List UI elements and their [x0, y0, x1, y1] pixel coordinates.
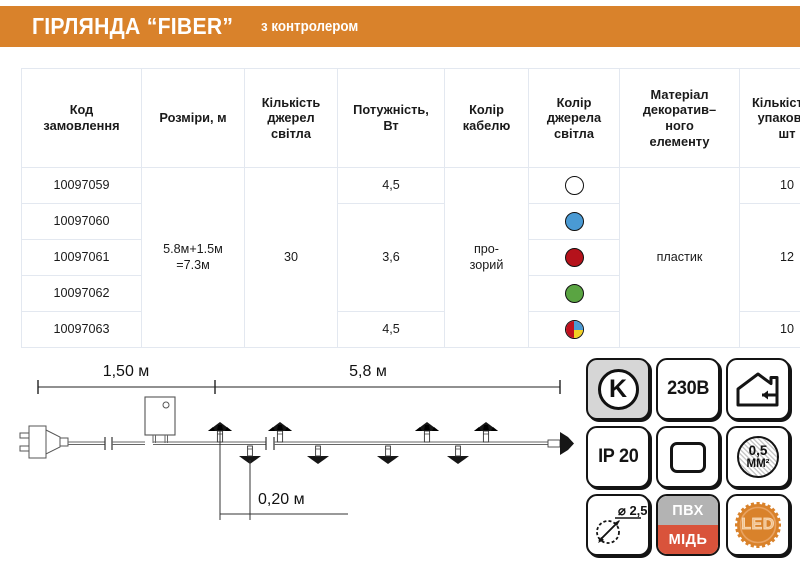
cell-order-code: 10097063: [22, 312, 142, 348]
k-mark-icon: K: [598, 369, 639, 410]
table-header: Код замовлення Розміри, м Кількість джер…: [22, 69, 800, 168]
cell-cable-color-line2: зорий: [448, 258, 525, 273]
diagram-svg: 1,50 м 5,8 м: [8, 352, 578, 557]
cross-section-value: 0,5: [749, 444, 768, 458]
dimension-lead-label: 1,50 м: [103, 363, 150, 380]
col-material-line4: елементу: [623, 134, 736, 150]
col-power: Потужність, Вт: [338, 69, 445, 168]
color-swatch-blue: [565, 212, 584, 231]
product-diagram: 1,50 м 5,8 м: [8, 352, 578, 557]
color-swatch-white: [565, 176, 584, 195]
cell-dimensions-line2: =7.3м: [145, 258, 241, 273]
cell-dimensions-line1: 5.8м+1.5м: [145, 242, 241, 257]
cell-power: 3,6: [338, 204, 445, 312]
cell-order-code: 10097062: [22, 276, 142, 312]
badge-voltage: 230В: [656, 358, 720, 420]
badge-ip-rating: IP 20: [586, 426, 650, 488]
col-material-line1: Матеріал: [623, 87, 736, 103]
cell-light-color: [529, 240, 620, 276]
house-arrow-icon: [735, 369, 781, 409]
col-order-code: Код замовлення: [22, 69, 142, 168]
pictogram-grid: K 230В IP 20 0,5 ММ²: [586, 358, 792, 556]
led-seal-icon: LED: [735, 502, 781, 548]
badge-indoor-use: [726, 358, 790, 420]
cross-section-unit: ММ²: [747, 458, 770, 470]
col-light-color-line1: Колір: [532, 95, 616, 111]
color-swatch-red: [565, 248, 584, 267]
col-pack-qty-line3: шт: [743, 126, 800, 142]
cable-lead: [68, 437, 145, 450]
material-wire-conductor: МІДЬ: [658, 525, 718, 554]
table-body: 10097059 5.8м+1.5м =7.3м 30 4,5 про- зор…: [22, 168, 800, 348]
dimension-main: 5,8 м: [215, 363, 560, 394]
diameter-label: ⌀ 2,55: [618, 503, 647, 518]
col-cable-color: Колір кабелю: [445, 69, 529, 168]
color-swatch-green: [565, 284, 584, 303]
ip-rating-label: IP 20: [598, 446, 638, 468]
col-dimensions: Розміри, м: [142, 69, 245, 168]
material-wire-insulation: ПВХ: [658, 496, 718, 525]
col-order-code-line2: замовлення: [25, 118, 138, 134]
cell-material: пластик: [620, 168, 740, 348]
badge-diameter: ⌀ 2,55: [586, 494, 650, 556]
cell-power: 4,5: [338, 312, 445, 348]
col-dimensions-line1: Розміри, м: [145, 110, 241, 126]
lamp-end: [548, 432, 574, 455]
led-seal-label: LED: [741, 516, 775, 534]
badge-cross-section: 0,5 ММ²: [726, 426, 790, 488]
col-source-count-line1: Кількість: [248, 95, 334, 111]
cell-light-color: [529, 168, 620, 204]
col-source-count-line2: джерел: [248, 110, 334, 126]
col-light-color: Колір джерела світла: [529, 69, 620, 168]
dimension-lead: 1,50 м: [38, 363, 215, 394]
cell-light-color: [529, 312, 620, 348]
dimension-spacing-label: 0,20 м: [258, 491, 305, 508]
table-header-row: Код замовлення Розміри, м Кількість джер…: [22, 69, 800, 168]
badge-class-2: [656, 426, 720, 488]
cell-cable-color: про- зорий: [445, 168, 529, 348]
col-cable-color-line2: кабелю: [448, 118, 525, 134]
header-banner: ГІРЛЯНДА “FIBER” з контролером: [0, 6, 800, 47]
specification-table: Код замовлення Розміри, м Кількість джер…: [21, 68, 800, 348]
col-power-line1: Потужність,: [341, 102, 441, 118]
cell-light-color: [529, 276, 620, 312]
col-cable-color-line1: Колір: [448, 102, 525, 118]
lamp-group-upper: [208, 422, 498, 442]
page-title: ГІРЛЯНДА “FIBER”: [32, 13, 233, 40]
cell-dimensions: 5.8м+1.5м =7.3м: [142, 168, 245, 348]
cell-pack-qty: 12: [740, 204, 800, 312]
col-material: Матеріал декоратив– ного елементу: [620, 69, 740, 168]
badge-k-mark: K: [586, 358, 650, 420]
col-material-line3: ного: [623, 118, 736, 134]
controller-box: [145, 397, 175, 443]
color-swatch-multicolor: [565, 320, 584, 339]
col-pack-qty: Кількість в упаковці, шт: [740, 69, 800, 168]
cell-order-code: 10097060: [22, 204, 142, 240]
dimension-main-label: 5,8 м: [349, 363, 387, 380]
badge-material-wire: ПВХ МІДЬ: [656, 494, 720, 556]
col-material-line2: декоратив–: [623, 102, 736, 118]
cell-pack-qty: 10: [740, 312, 800, 348]
col-light-color-line2: джерела: [532, 110, 616, 126]
col-light-color-line3: світла: [532, 126, 616, 142]
cross-section-icon: 0,5 ММ²: [737, 436, 779, 478]
table-row: 10097059 5.8м+1.5м =7.3м 30 4,5 про- зор…: [22, 168, 800, 204]
col-power-line2: Вт: [341, 118, 441, 134]
power-plug-icon: [20, 426, 68, 458]
cell-cable-color-line1: про-: [448, 242, 525, 257]
cell-light-color: [529, 204, 620, 240]
voltage-label: 230В: [667, 378, 709, 400]
col-pack-qty-line2: упаковці,: [743, 110, 800, 126]
cell-power: 4,5: [338, 168, 445, 204]
diameter-icon: ⌀ 2,55: [589, 500, 647, 550]
cell-source-count: 30: [245, 168, 338, 348]
page-subtitle: з контролером: [261, 19, 358, 35]
cell-order-code: 10097061: [22, 240, 142, 276]
col-source-count: Кількість джерел світла: [245, 69, 338, 168]
k-mark-label: K: [609, 377, 627, 402]
col-order-code-line1: Код: [25, 102, 138, 118]
col-pack-qty-line1: Кількість в: [743, 95, 800, 111]
double-square-icon: [670, 442, 706, 473]
col-source-count-line3: світла: [248, 126, 334, 142]
badge-led-seal: LED: [726, 494, 790, 556]
cell-order-code: 10097059: [22, 168, 142, 204]
cell-pack-qty: 10: [740, 168, 800, 204]
